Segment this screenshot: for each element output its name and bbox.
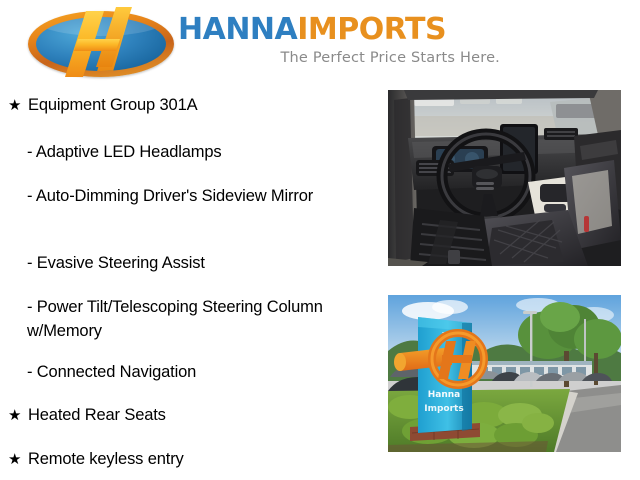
dealership-sign-photo: 310 Hanna Imports: [388, 295, 621, 452]
list-item: ★ Remote keyless entry: [8, 448, 378, 470]
brand-wordmark-imports: IMPORTS: [297, 12, 446, 47]
star-bullet-icon: ★: [8, 448, 28, 470]
hanna-oval-h-logo-icon: [28, 11, 174, 77]
list-item: - Evasive Steering Assist: [27, 251, 327, 275]
brand-tagline: The Perfect Price Starts Here.: [178, 50, 500, 66]
star-bullet-icon: ★: [8, 94, 28, 116]
list-item: - Connected Navigation: [27, 360, 327, 384]
feature-label: Equipment Group 301A: [28, 94, 197, 116]
feature-sub-label: - Power Tilt/Telescoping Steering Column…: [27, 298, 323, 340]
svg-text:Hanna: Hanna: [428, 390, 461, 400]
brand-wordmark: HANNAIMPORTS: [178, 14, 508, 46]
feature-sub-label: - Evasive Steering Assist: [27, 254, 205, 272]
list-item: - Auto-Dimming Driver's Sideview Mirror: [27, 184, 327, 208]
header-banner: HANNAIMPORTS The Perfect Price Starts He…: [0, 0, 640, 88]
feature-label: Heated Rear Seats: [28, 404, 166, 426]
star-bullet-icon: ★: [8, 404, 28, 426]
list-item: - Power Tilt/Telescoping Steering Column…: [27, 295, 327, 343]
feature-sub-label: - Connected Navigation: [27, 363, 196, 381]
feature-list: ★ Equipment Group 301A - Adaptive LED He…: [0, 88, 382, 480]
brand-wordmark-hanna: HANNA: [178, 12, 297, 47]
logo-h-letter-icon: [28, 11, 174, 77]
list-item: ★ Equipment Group 301A: [8, 94, 378, 116]
feature-sub-label: - Auto-Dimming Driver's Sideview Mirror: [27, 187, 313, 205]
feature-sub-label: - Adaptive LED Headlamps: [27, 143, 222, 161]
brand-wordmark-block: HANNAIMPORTS The Perfect Price Starts He…: [178, 14, 508, 66]
list-item: ★ Heated Rear Seats: [8, 404, 378, 426]
svg-text:Imports: Imports: [424, 404, 463, 414]
list-item: - Adaptive LED Headlamps: [27, 140, 327, 164]
vehicle-interior-photo: [388, 90, 621, 266]
feature-label: Remote keyless entry: [28, 448, 184, 470]
